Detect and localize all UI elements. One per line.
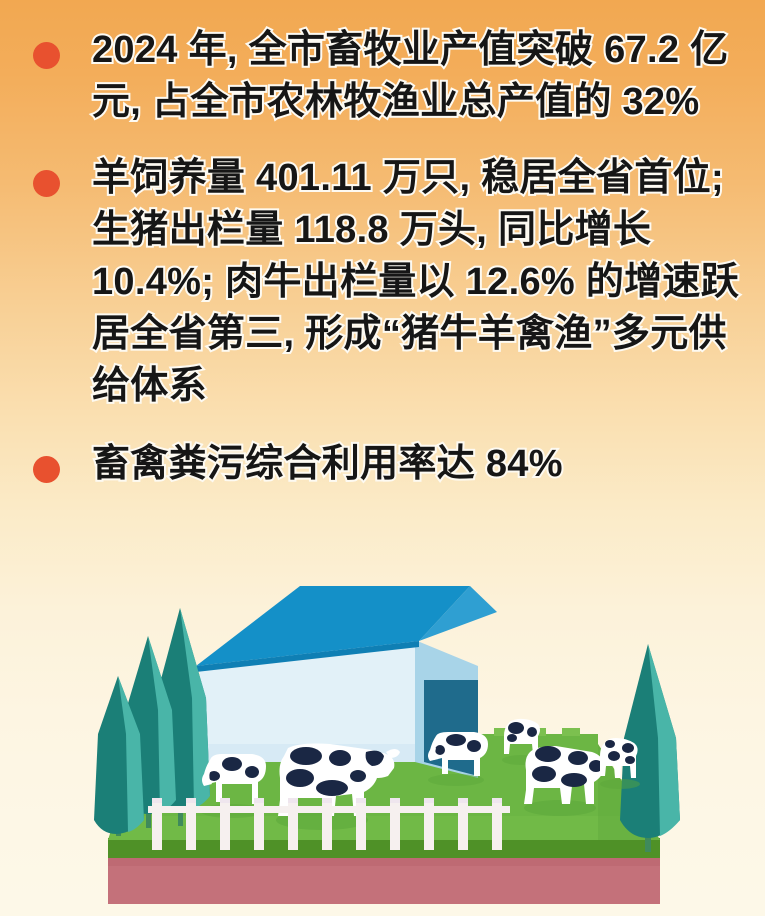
list-item: 2024 年, 全市畜牧业产值突破 67.2 亿元, 占全市农林牧渔业总产值的 … xyxy=(0,24,765,128)
bullet-dot-icon xyxy=(33,170,60,197)
livestock-farm-illustration xyxy=(0,548,765,916)
bullet-list: 2024 年, 全市畜牧业产值突破 67.2 亿元, 占全市农林牧渔业总产值的 … xyxy=(0,0,765,490)
cow-grazing-right xyxy=(428,732,488,786)
bullet-dot-icon xyxy=(33,42,60,69)
bullet-text: 羊饲养量 401.11 万只, 稳居全省首位; 生猪出栏量 118.8 万头, … xyxy=(92,152,753,412)
bullet-text: 畜禽粪污综合利用率达 84% xyxy=(92,438,753,490)
list-item: 畜禽粪污综合利用率达 84% xyxy=(0,438,765,490)
cow-standing-mid-right xyxy=(524,746,604,816)
soil-base-group xyxy=(108,856,660,904)
bullet-text: 2024 年, 全市畜牧业产值突破 67.2 亿元, 占全市农林牧渔业总产值的 … xyxy=(92,24,753,128)
infographic-root: 2024 年, 全市畜牧业产值突破 67.2 亿元, 占全市农林牧渔业总产值的 … xyxy=(0,0,765,916)
cow-rear-facing-right xyxy=(600,738,640,789)
bullet-dot-icon xyxy=(33,456,60,483)
list-item: 羊饲养量 401.11 万只, 稳居全省首位; 生猪出栏量 118.8 万头, … xyxy=(0,152,765,412)
